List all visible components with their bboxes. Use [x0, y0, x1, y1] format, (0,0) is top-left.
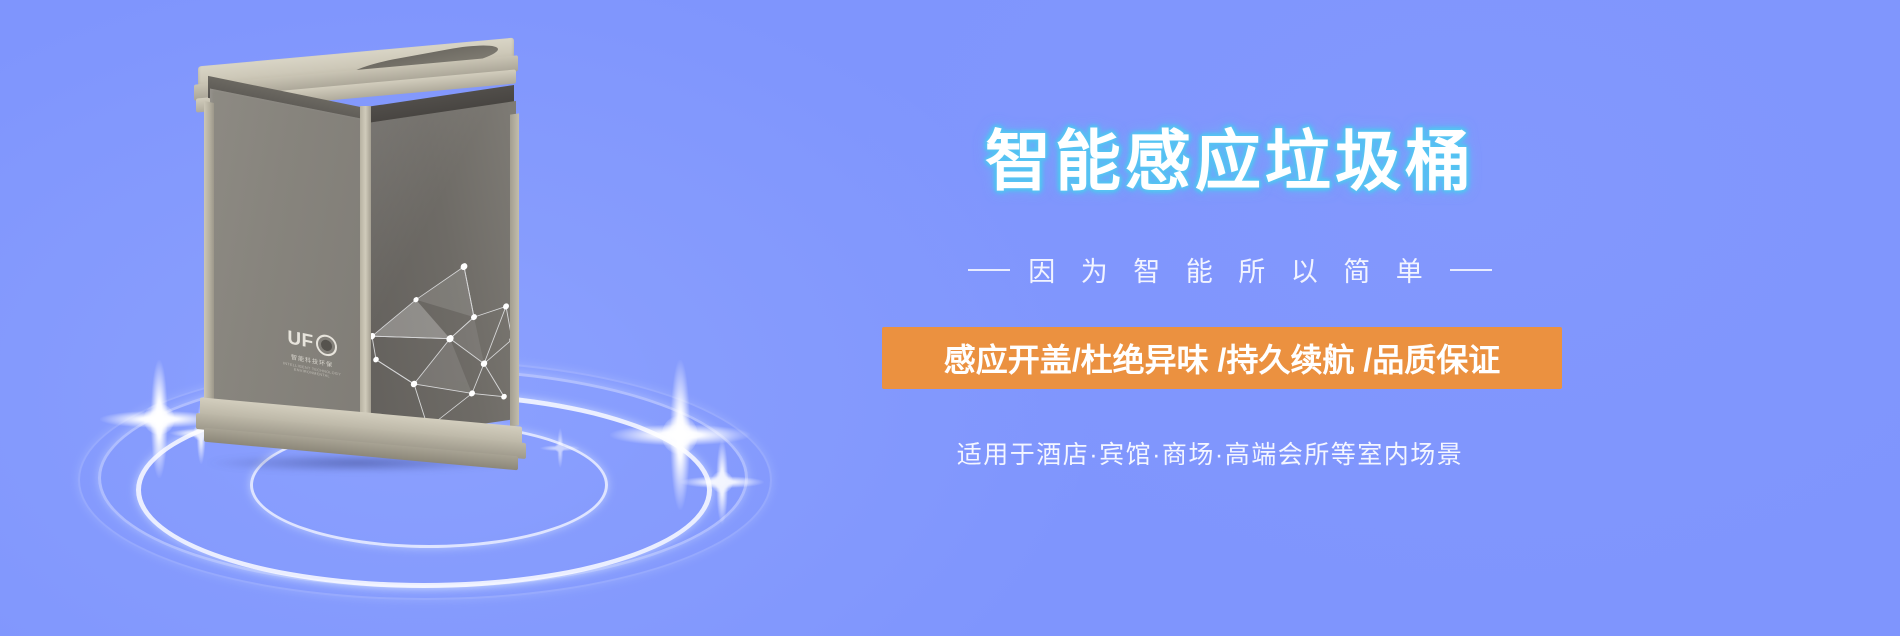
tagline-dash-left: [968, 269, 1010, 271]
product-image-trash-bin: UF 智能科技环保 INTELLIGENT TECHNOLOGY ENVIRON…: [180, 40, 540, 460]
usage-scene-text: 适用于酒店·宾馆·商场·高端会所等室内场景: [880, 435, 1540, 471]
polygon-network-graphic: [366, 218, 516, 441]
bin-edge-pillar-center: [360, 106, 371, 436]
promo-banner: UF 智能科技环保 INTELLIGENT TECHNOLOGY ENVIRON…: [0, 0, 1900, 636]
ufo-logo-ring-icon: [316, 333, 337, 358]
copy-block: 智能感应垃圾桶 因 为 智 能 所 以 简 单 感应开盖/杜绝异味 /持久续航 …: [880, 0, 1880, 636]
ufo-logo-letters: UF: [287, 328, 313, 352]
tagline-text: 因 为 智 能 所 以 简 单: [1028, 250, 1432, 289]
bin-edge-pillar-left: [204, 101, 214, 425]
product-stage: UF 智能科技环保 INTELLIGENT TECHNOLOGY ENVIRON…: [70, 30, 790, 610]
features-badge: 感应开盖/杜绝异味 /持久续航 /品质保证: [882, 327, 1562, 389]
bin-edge-pillar-right: [510, 113, 519, 426]
tagline-dash-right: [1450, 269, 1492, 271]
tagline: 因 为 智 能 所 以 简 单: [880, 250, 1580, 289]
bin-face-right: [366, 101, 516, 441]
page-title: 智能感应垃圾桶: [880, 128, 1580, 194]
